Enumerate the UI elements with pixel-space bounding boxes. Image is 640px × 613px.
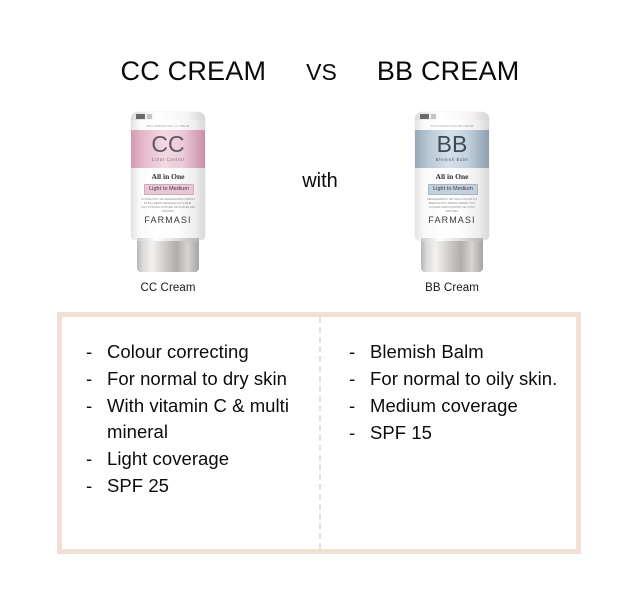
- tube-micro-text: SKIN PERFECTING CC CREAM: [141, 125, 195, 128]
- tube-shade-label: Light to Medium: [144, 184, 194, 195]
- feature-list-item: SPF 25: [84, 473, 309, 499]
- tube-all-in-one-text: All in One: [131, 172, 205, 181]
- tube-micro-text: SKIN PERFECTING BB CREAM: [425, 125, 479, 128]
- feature-list-item: Medium coverage: [347, 393, 566, 419]
- cc-feature-list: Colour correctingFor normal to dry skinW…: [84, 339, 309, 499]
- product-caption-cc: CC Cream: [108, 282, 228, 294]
- comparison-box: Colour correctingFor normal to dry skinW…: [57, 312, 581, 554]
- tube-fineprint-text: NEMLENDIRICI VE TUM GUN KALICI BAKIM ETK…: [425, 197, 479, 213]
- tube-cap: [137, 238, 199, 272]
- tube-product-letters: CC: [131, 132, 205, 157]
- tube-seal: [415, 112, 489, 120]
- title-bb-cream: BB CREAM: [377, 56, 520, 87]
- tube-body: SKIN PERFECTING CC CREAM CC Color Contro…: [131, 112, 205, 240]
- feature-list-item: Blemish Balm: [347, 339, 566, 365]
- tube-body: SKIN PERFECTING BB CREAM BB Blemish Balm…: [415, 112, 489, 240]
- tube-fineprint-text: AYDINLATICI VE NEMLENDIRICI BAKIM ETKILI…: [141, 197, 195, 213]
- feature-list-item: For normal to dry skin: [84, 366, 309, 392]
- feature-list-item: Colour correcting: [84, 339, 309, 365]
- tube-brand-name: FARMASI: [415, 215, 489, 225]
- product-bb-cream: SKIN PERFECTING BB CREAM BB Blemish Balm…: [392, 112, 512, 294]
- bb-feature-list: Blemish BalmFor normal to oily skin.Medi…: [347, 339, 566, 446]
- page-title: CC CREAM VS BB CREAM: [0, 56, 640, 87]
- tube-product-subtitle: Blemish Balm: [415, 157, 489, 162]
- title-cc-cream: CC CREAM: [121, 56, 267, 87]
- feature-list-item: Light coverage: [84, 446, 309, 472]
- seal-mark-icon: [420, 114, 429, 119]
- with-label: with: [270, 170, 370, 193]
- product-caption-bb: BB Cream: [392, 282, 512, 294]
- feature-list-item: For normal to oily skin.: [347, 366, 566, 392]
- feature-list-item: With vitamin C & multi mineral: [84, 393, 309, 445]
- tube-seal: [131, 112, 205, 120]
- seal-mark-icon: [136, 114, 145, 119]
- bb-cream-tube-image: SKIN PERFECTING BB CREAM BB Blemish Balm…: [415, 112, 489, 272]
- tube-color-band: BB Blemish Balm: [415, 130, 489, 168]
- tube-cap-rim: [137, 238, 199, 241]
- product-cc-cream: SKIN PERFECTING CC CREAM CC Color Contro…: [108, 112, 228, 294]
- seal-mark-secondary-icon: [147, 114, 152, 119]
- tube-all-in-one-text: All in One: [415, 172, 489, 181]
- tube-brand-name: FARMASI: [131, 215, 205, 225]
- tube-product-letters: BB: [415, 132, 489, 157]
- feature-list-item: SPF 15: [347, 420, 566, 446]
- tube-cap-rim: [421, 238, 483, 241]
- comparison-column-bb: Blemish BalmFor normal to oily skin.Medi…: [319, 317, 576, 549]
- tube-cap: [421, 238, 483, 272]
- tube-product-subtitle: Color Control: [131, 157, 205, 162]
- seal-mark-secondary-icon: [431, 114, 436, 119]
- title-vs-separator: VS: [306, 59, 337, 86]
- tube-shade-label: Light to Medium: [428, 184, 478, 195]
- products-row: SKIN PERFECTING CC CREAM CC Color Contro…: [0, 112, 640, 302]
- cc-cream-tube-image: SKIN PERFECTING CC CREAM CC Color Contro…: [131, 112, 205, 272]
- tube-color-band: CC Color Control: [131, 130, 205, 168]
- comparison-column-cc: Colour correctingFor normal to dry skinW…: [62, 317, 319, 549]
